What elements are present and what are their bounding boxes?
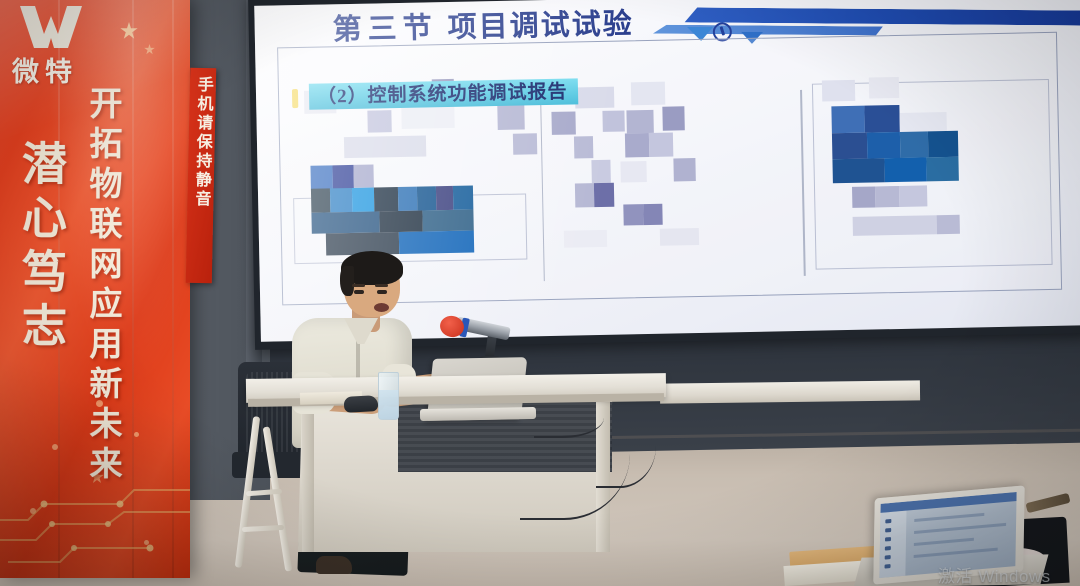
speaker-brow-right (375, 284, 388, 287)
slide-title-main: 项目调试试验 (447, 8, 634, 44)
presenter-laptop-keyboard[interactable] (420, 407, 536, 421)
sidebar-item-icon (885, 564, 891, 569)
speaker-brow-left (352, 284, 365, 287)
header-swoosh-band (685, 7, 1080, 25)
header-swoosh-band-secondary (653, 25, 883, 36)
speaker-shoe (316, 556, 352, 574)
windows-activation-watermark: 激活 Windows (938, 562, 1051, 586)
sidebar-item-icon (885, 555, 891, 560)
panel-divider-1 (540, 95, 545, 281)
foreground-app-row (914, 523, 1006, 534)
speaker-eye-left (354, 290, 364, 294)
banner-slogan-main: 开拓物联网应用新未来 (78, 86, 126, 486)
banner-slogan-sub: 潜心笃志 (8, 140, 73, 356)
folding-easel-stand (240, 416, 304, 576)
company-logo-icon (18, 4, 84, 50)
foreground-app-row (914, 513, 984, 522)
company-name: 微特 (12, 50, 78, 89)
speaker-eye-right (377, 290, 387, 294)
foreground-app-sidebar (879, 511, 906, 578)
censored-content-right (808, 63, 1046, 282)
foreground-app-row (914, 538, 974, 546)
sidebar-item-icon (885, 528, 891, 533)
secondary-desk (660, 380, 920, 403)
banner-star-decor (120, 22, 138, 40)
panel-divider-2 (800, 90, 805, 276)
screenshot-root: 第三节项目调试试验 (0, 0, 1080, 586)
banner-star-decor (144, 44, 155, 55)
computer-mouse[interactable] (344, 395, 379, 413)
silence-notice-sign: 手机请保持静音 (186, 68, 216, 283)
slide-title-section: 第三节 (332, 12, 438, 46)
foreground-app-row (914, 548, 998, 558)
censored-content-center (551, 68, 796, 287)
sidebar-item-icon (885, 537, 891, 542)
silence-notice-text: 手机请保持静音 (188, 76, 215, 209)
water-glass-fill (379, 390, 398, 419)
sidebar-item-icon (885, 546, 891, 551)
red-promotional-banner: 微特 开拓物联网应用新未来 (0, 0, 190, 578)
sidebar-item-icon (885, 519, 891, 524)
slide-subtitle: （2）控制系统功能调试报告 (309, 78, 578, 109)
speaker-sideburn (340, 266, 354, 296)
speaker-mouth (374, 303, 389, 312)
